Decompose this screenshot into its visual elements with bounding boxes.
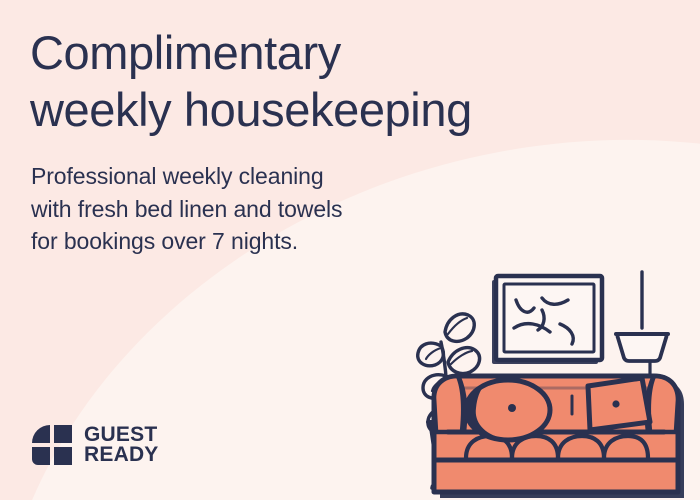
square-pillow-icon (588, 378, 650, 430)
promo-banner: Complimentary weekly housekeeping Profes… (0, 0, 700, 500)
logo-wordmark: GUEST READY (84, 425, 159, 466)
pendant-lamp-icon (616, 272, 668, 382)
living-room-illustration (392, 262, 700, 500)
sofa-icon (434, 376, 684, 498)
framed-art-icon (492, 276, 602, 364)
subcopy: Professional weekly cleaning with fresh … (31, 160, 451, 258)
headline: Complimentary weekly housekeeping (30, 24, 630, 139)
banner-content: Complimentary weekly housekeeping Profes… (0, 0, 700, 500)
round-cushion-icon (466, 380, 550, 440)
brand-logo: GUEST READY (31, 424, 159, 466)
guestready-quadrant-mark-icon (31, 424, 73, 466)
